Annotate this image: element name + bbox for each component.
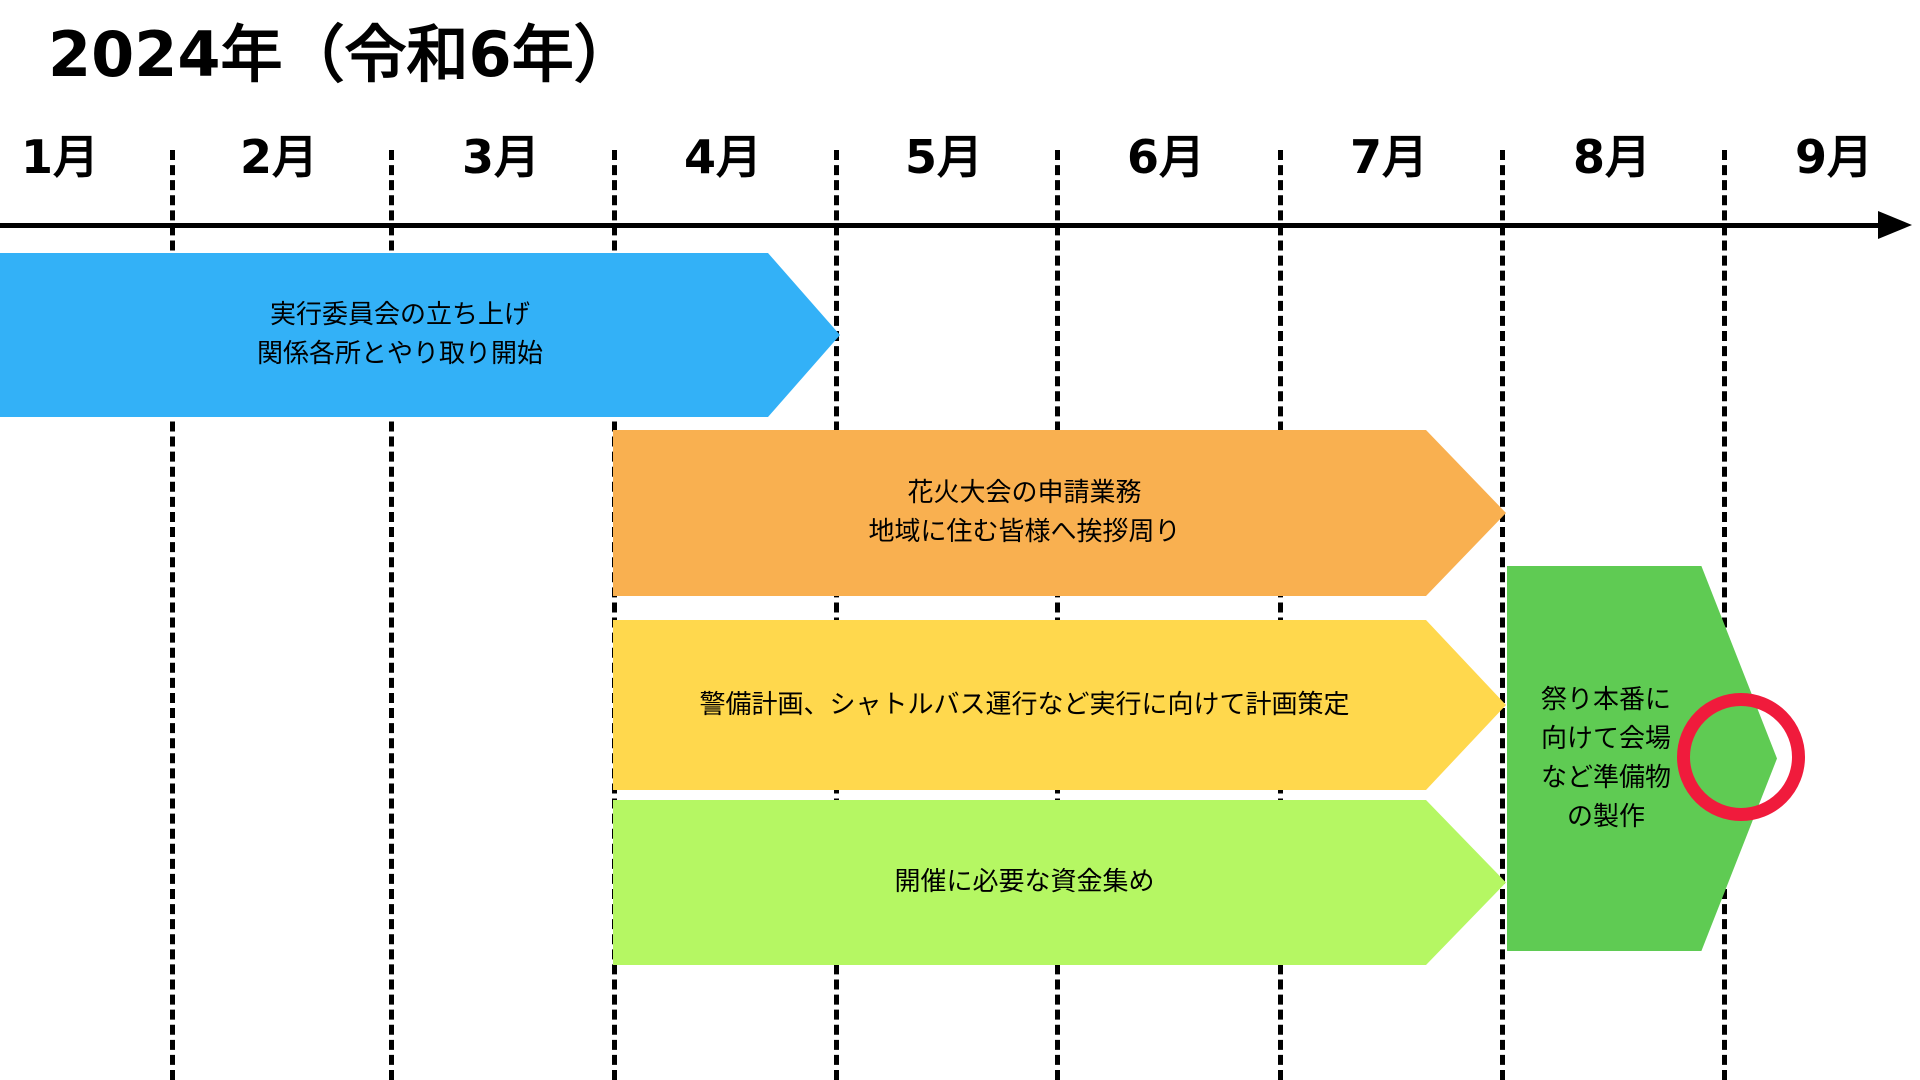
task-bar-application[interactable]: 花火大会の申請業務 地域に住む皆様へ挨拶周り	[613, 430, 1506, 596]
month-label-text: 7月	[1350, 130, 1428, 184]
month-label-text: 2月	[240, 130, 318, 184]
task-bar-funding-label: 開催に必要な資金集め	[894, 863, 1154, 902]
month-label-text: 6月	[1127, 130, 1205, 184]
month-label-5: 5月	[834, 134, 1054, 180]
month-label-1: 1月	[0, 134, 170, 180]
gridline-jul-aug	[1500, 150, 1505, 1080]
timeline-axis-line	[0, 223, 1890, 228]
month-label-7: 7月	[1279, 134, 1499, 180]
month-label-text: 8月	[1573, 130, 1651, 184]
month-label-2: 2月	[169, 134, 389, 180]
month-label-text: 3月	[462, 130, 540, 184]
month-label-6: 6月	[1056, 134, 1276, 180]
month-label-3: 3月	[391, 134, 611, 180]
month-label-text: 1月	[21, 130, 99, 184]
task-bar-production-label: 祭り本番に 向けて会場 など準備物 の製作	[1541, 681, 1671, 837]
task-bar-funding[interactable]: 開催に必要な資金集め	[613, 800, 1506, 965]
timeline-arrow-icon	[1878, 211, 1912, 239]
gridline-aug-sep	[1722, 150, 1727, 1080]
month-label-text: 4月	[684, 130, 762, 184]
gantt-chart-canvas: 2024年（令和6年） 1月 2月 3月 4月 5月 6月 7月 8月 9月 実…	[0, 0, 1920, 1080]
month-label-4: 4月	[613, 134, 833, 180]
task-bar-kickoff-label: 実行委員会の立ち上げ 関係各所とやり取り開始	[257, 296, 543, 374]
task-bar-planning[interactable]: 警備計画、シャトルバス運行など実行に向けて計画策定	[613, 620, 1506, 790]
month-label-8: 8月	[1502, 134, 1722, 180]
month-label-text: 9月	[1795, 130, 1873, 184]
page-title: 2024年（令和6年）	[48, 22, 636, 87]
month-label-text: 5月	[905, 130, 983, 184]
task-bar-planning-label: 警備計画、シャトルバス運行など実行に向けて計画策定	[699, 686, 1349, 725]
task-bar-application-label: 花火大会の申請業務 地域に住む皆様へ挨拶周り	[868, 474, 1180, 552]
task-bar-kickoff[interactable]: 実行委員会の立ち上げ 関係各所とやり取り開始	[0, 253, 840, 417]
highlight-circle-annotation	[1677, 693, 1805, 821]
month-label-9: 9月	[1724, 134, 1920, 180]
